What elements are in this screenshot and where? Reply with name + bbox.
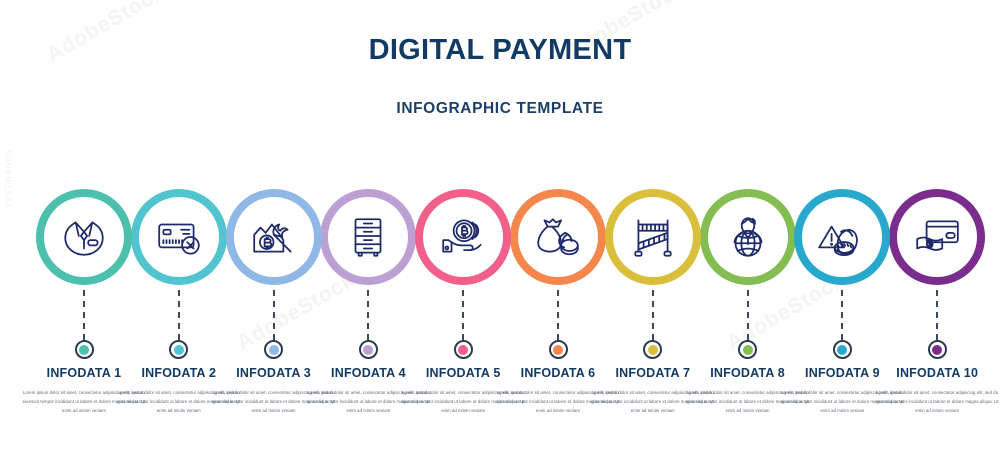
step-marker-1[interactable] <box>75 340 94 359</box>
connector-line-9 <box>841 290 843 340</box>
page-title: DIGITAL PAYMENT <box>0 34 1000 67</box>
connector-line-6 <box>557 290 559 340</box>
connector-line-1 <box>83 290 85 340</box>
step-marker-4[interactable] <box>359 340 378 359</box>
steps-circle-row <box>0 189 1000 289</box>
marker-dot <box>363 345 373 355</box>
bitcoin-mining-icon <box>249 212 299 262</box>
shirt-tie-icon <box>59 212 109 262</box>
marker-dot <box>79 345 89 355</box>
step-circle-9[interactable] <box>794 189 890 285</box>
marker-dot <box>743 345 753 355</box>
step-circle-4[interactable] <box>320 189 416 285</box>
barrier-icon <box>628 212 678 262</box>
step-text-block-10: INFODATA 10Lorem ipsum dolor sit amet, c… <box>873 366 1000 415</box>
step-marker-9[interactable] <box>833 340 852 359</box>
step-circle-8[interactable] <box>700 189 796 285</box>
marker-dot <box>837 345 847 355</box>
step-circle-5[interactable] <box>415 189 511 285</box>
connector-line-10 <box>936 290 938 340</box>
connector-line-7 <box>652 290 654 340</box>
infographic-page: AdobeStock AdobeStock AdobeStock AdobeSt… <box>0 0 1000 450</box>
marker-dot <box>932 345 942 355</box>
step-marker-8[interactable] <box>738 340 757 359</box>
page-subtitle: INFOGRAPHIC TEMPLATE <box>0 100 1000 118</box>
step-circle-6[interactable] <box>510 189 606 285</box>
global-businesswoman-icon <box>723 212 773 262</box>
risk-warning-coins-icon <box>817 212 867 262</box>
card-cash-payment-icon <box>912 212 962 262</box>
marker-dot <box>269 345 279 355</box>
marker-dot <box>174 345 184 355</box>
step-circle-1[interactable] <box>36 189 132 285</box>
step-marker-6[interactable] <box>549 340 568 359</box>
step-marker-7[interactable] <box>643 340 662 359</box>
marker-dot <box>458 345 468 355</box>
credit-card-declined-icon <box>154 212 204 262</box>
connector-line-2 <box>178 290 180 340</box>
filing-cabinet-icon <box>343 212 393 262</box>
connector-line-8 <box>747 290 749 340</box>
step-circle-7[interactable] <box>605 189 701 285</box>
marker-dot <box>648 345 658 355</box>
connector-line-3 <box>273 290 275 340</box>
step-marker-2[interactable] <box>169 340 188 359</box>
step-marker-5[interactable] <box>454 340 473 359</box>
step-circle-3[interactable] <box>226 189 322 285</box>
money-bag-coins-icon <box>533 212 583 262</box>
step-circle-2[interactable] <box>131 189 227 285</box>
connector-line-5 <box>462 290 464 340</box>
step-label-10[interactable]: INFODATA 10 <box>873 366 1000 380</box>
connector-line-4 <box>367 290 369 340</box>
step-marker-3[interactable] <box>264 340 283 359</box>
step-circle-10[interactable] <box>889 189 985 285</box>
step-body-10: Lorem ipsum dolor sit amet, consectetur … <box>873 389 1000 415</box>
hand-bitcoin-coins-icon <box>438 212 488 262</box>
step-marker-10[interactable] <box>928 340 947 359</box>
marker-dot <box>553 345 563 355</box>
